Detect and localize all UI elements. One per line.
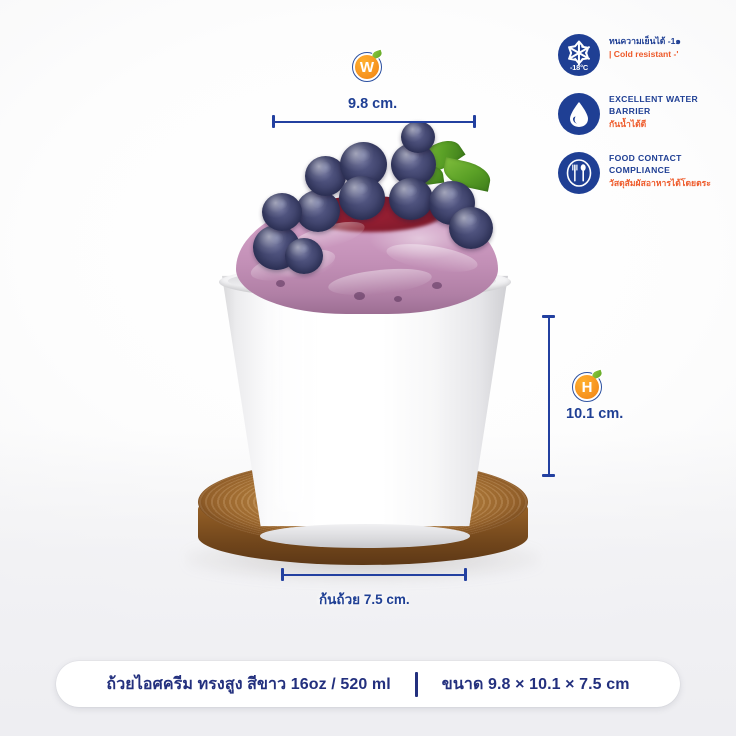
- badge-water-barrier: EXCELLENT WATER BARRIER กันน้ำได้ดี: [558, 93, 736, 135]
- berry-chunk: [276, 280, 285, 287]
- product-spec-image: -18°C ทนความเย็นได้ -1๑ | Cold resistant…: [0, 0, 736, 736]
- snowflake-glyph: [566, 40, 592, 66]
- badge-text: EXCELLENT WATER BARRIER กันน้ำได้ดี: [609, 93, 698, 130]
- dimension-bar: [548, 315, 550, 477]
- blueberry: [285, 238, 323, 274]
- bottom-dimension-label: ก้นถ้วย 7.5 cm.: [319, 588, 410, 610]
- product-size-label: ขนาด 9.8 × 10.1 × 7.5 cm: [442, 672, 630, 697]
- dimension-cap: [473, 115, 476, 128]
- badge-water-line-th: กันน้ำได้ดี: [609, 118, 698, 130]
- blueberry: [339, 176, 385, 220]
- badge-cold-resistant: -18°C ทนความเย็นได้ -1๑ | Cold resistant…: [558, 34, 736, 76]
- product-name-label: ถ้วยไอศครีม ทรงสูง สีขาว 16oz / 520 ml: [106, 672, 390, 697]
- bottom-dimension-line: [281, 568, 467, 581]
- width-dimension-label: 9.8 cm.: [348, 96, 397, 112]
- badge-text: ทนความเย็นได้ -1๑ | Cold resistant -': [609, 34, 681, 60]
- dimension-bar: [272, 121, 476, 123]
- badge-cold-line-en: | Cold resistant -': [609, 48, 681, 60]
- badge-food-line1: FOOD CONTACT: [609, 153, 711, 165]
- blueberry: [262, 193, 302, 231]
- badge-food-line-th: วัสดุสัมผัสอาหารได้โดยตระ: [609, 177, 711, 189]
- brand-chip-w-icon: W: [352, 52, 382, 82]
- chip-letter: H: [575, 375, 599, 399]
- dimension-cap: [464, 568, 467, 581]
- dimension-bar: [281, 574, 467, 576]
- snowflake-temp-label: -18°C: [558, 63, 600, 72]
- cup-base: [260, 524, 470, 548]
- fork-spoon-icon: [558, 152, 600, 194]
- badge-cold-line-th: ทนความเย็นได้ -1๑: [609, 35, 681, 47]
- dimension-cap: [542, 474, 555, 477]
- cup-highlight: [268, 286, 322, 512]
- badge-text: FOOD CONTACT COMPLIANCE วัสดุสัมผัสอาหาร…: [609, 152, 711, 189]
- snowflake-icon: -18°C: [558, 34, 600, 76]
- water-drop-icon: [558, 93, 600, 135]
- badge-food-line2: COMPLIANCE: [609, 165, 711, 177]
- badge-water-line1: EXCELLENT WATER: [609, 94, 698, 106]
- feature-badges: -18°C ทนความเย็นได้ -1๑ | Cold resistant…: [558, 34, 736, 211]
- badge-food-contact: FOOD CONTACT COMPLIANCE วัสดุสัมผัสอาหาร…: [558, 152, 736, 194]
- cream-swirl: [327, 265, 433, 300]
- blueberry: [389, 178, 433, 220]
- brand-chip-h-icon: H: [572, 372, 602, 402]
- caption-bar: ถ้วยไอศครีม ทรงสูง สีขาว 16oz / 520 ml ข…: [56, 661, 680, 707]
- blueberry: [296, 190, 340, 232]
- width-dimension-line: [272, 115, 476, 128]
- height-dimension-line: [542, 315, 555, 477]
- chip-letter: W: [355, 55, 379, 79]
- berry-chunk: [354, 292, 365, 300]
- berry-chunk: [394, 296, 402, 302]
- height-dimension-label: 10.1 cm.: [566, 406, 623, 422]
- badge-water-line2: BARRIER: [609, 106, 698, 118]
- blueberry: [449, 207, 493, 249]
- berry-chunk: [432, 282, 442, 289]
- caption-divider: [415, 672, 418, 697]
